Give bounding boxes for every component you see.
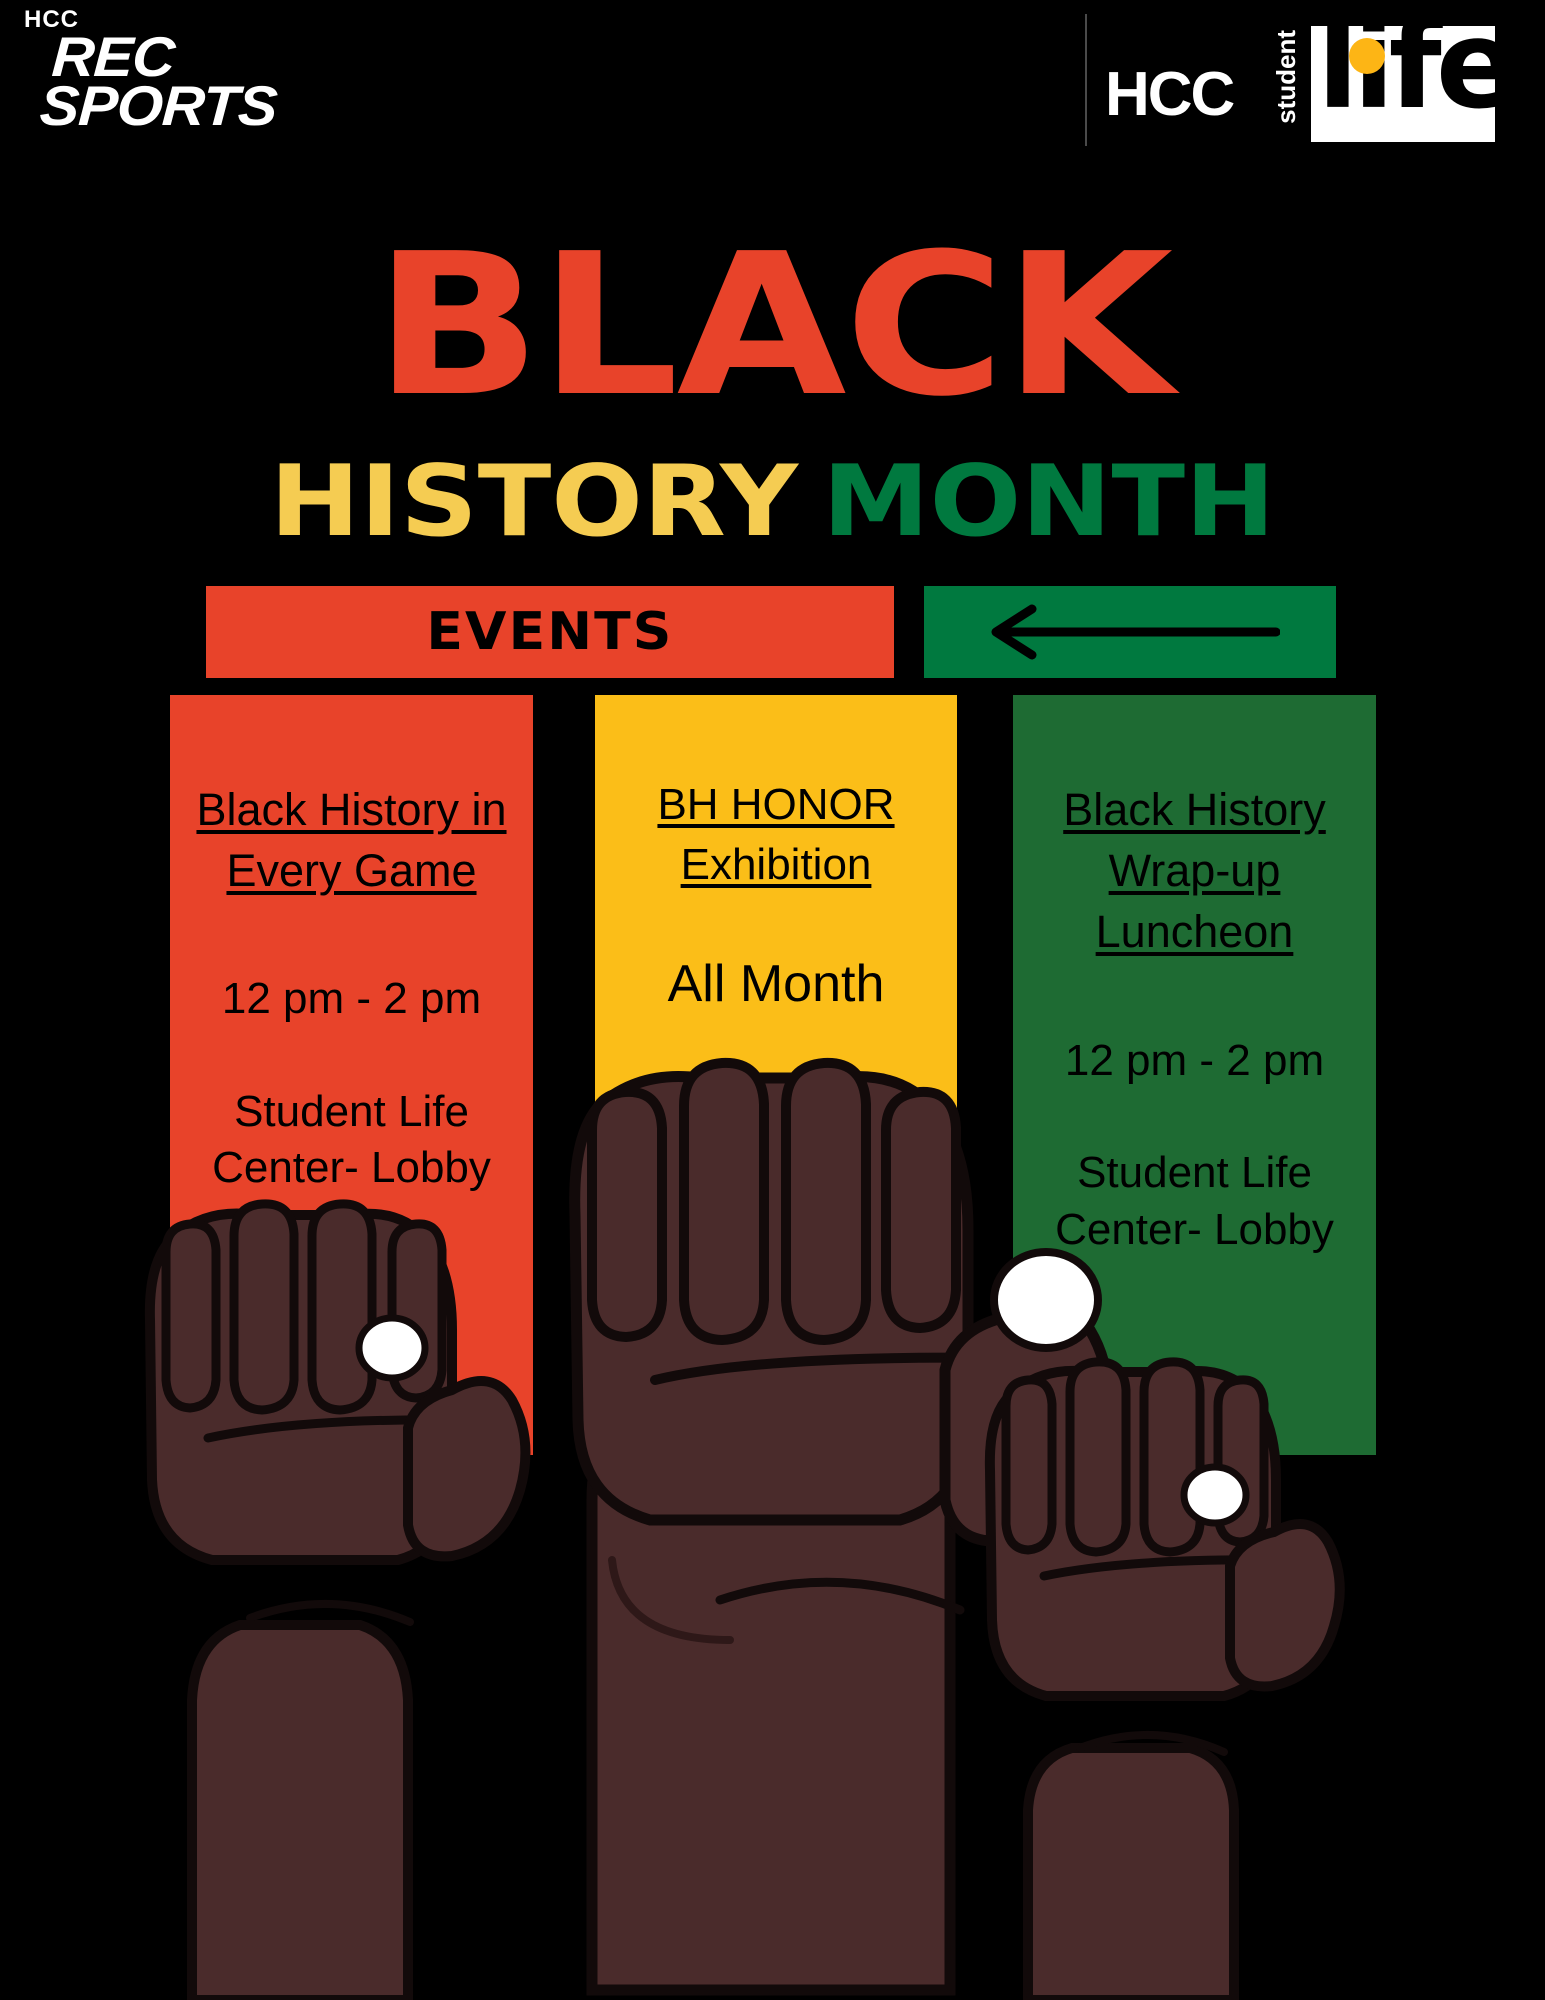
event-card-time: All Month <box>595 953 957 1015</box>
student-life-student-text: student <box>1273 30 1299 124</box>
event-card-time: 12 pm - 2 pm <box>170 973 533 1026</box>
fist-right <box>990 1362 1340 2000</box>
rec-sports-sports-text: SPORTS <box>39 81 372 130</box>
student-life-life-text: life <box>1317 26 1495 126</box>
student-life-life-box: life <box>1311 26 1495 142</box>
arrow-banner <box>924 586 1336 678</box>
event-card-black-history-wrap-up-luncheon[interactable]: Black History Wrap-up Luncheon 12 pm - 2… <box>1013 695 1376 1455</box>
page-title-black: BLACK <box>0 228 1545 424</box>
page-title-month: MONTH <box>822 445 1275 559</box>
event-card-title: Black History in Every Game <box>170 779 533 901</box>
event-card-title: BH HONOR Exhibition <box>595 775 957 895</box>
event-card-black-history-in-every-game[interactable]: Black History in Every Game 12 pm - 2 pm… <box>170 695 533 1455</box>
arrow-left-icon <box>980 604 1280 660</box>
header-divider <box>1085 14 1087 146</box>
event-card-title: Black History Wrap-up Luncheon <box>1013 779 1376 963</box>
page-title-history: HISTORY <box>270 445 798 559</box>
event-card-location: Student Life Center- Lobby <box>170 1084 533 1197</box>
page-title-subline: HISTORYMONTH <box>0 453 1545 551</box>
hcc-student-life-logo: HCC student life <box>1105 22 1525 142</box>
hcc-rec-sports-logo: HCC REC SPORTS <box>22 8 352 138</box>
event-card-bh-honor-exhibition[interactable]: BH HONOR Exhibition All Month <box>595 695 957 1160</box>
event-card-time: 12 pm - 2 pm <box>1013 1035 1376 1088</box>
events-banner-label: EVENTS <box>427 602 674 662</box>
poster-canvas: HCC REC SPORTS HCC student life BLACK HI… <box>0 0 1545 2000</box>
orange-dot-icon <box>1349 38 1385 74</box>
event-card-location: Student Life Center- Lobby <box>1013 1145 1376 1258</box>
student-life-hcc-text: HCC <box>1105 64 1233 126</box>
events-banner: EVENTS <box>206 586 894 678</box>
